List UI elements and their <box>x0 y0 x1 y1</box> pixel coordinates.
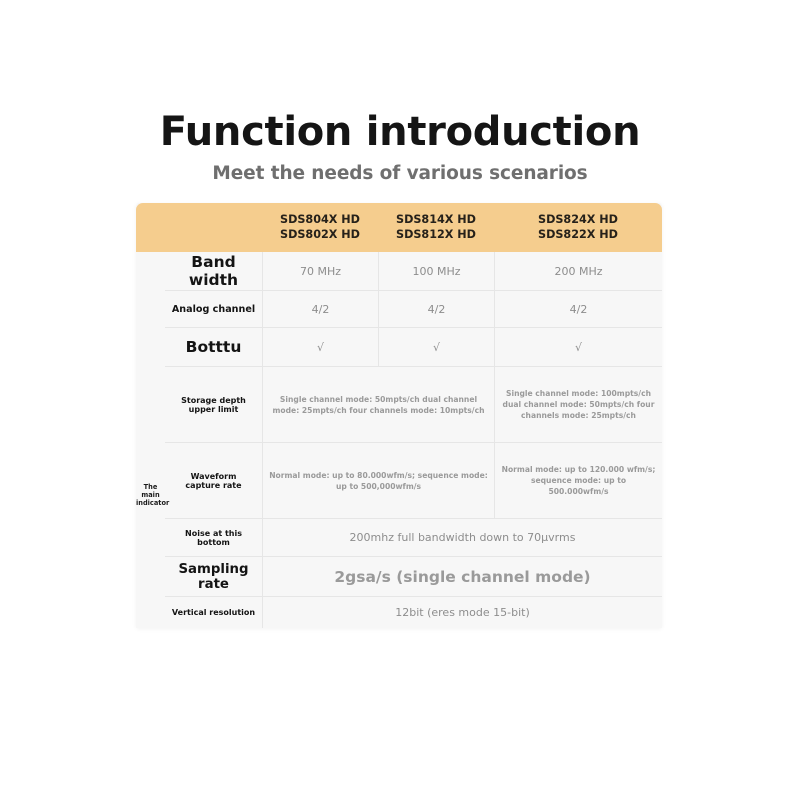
row-label-storage-depth-line-2: upper limit <box>181 405 246 414</box>
cell-waveform-col-3: Normal mode: up to 120.000 wfm/s; sequen… <box>494 443 662 518</box>
cell-noise-all-columns: 200mhz full bandwidth down to 70µvrms <box>262 519 662 556</box>
table-row: Vertical resolution 12bit (eres mode 15-… <box>165 596 662 628</box>
table-rows: Band width 70 MHz 100 MHz 200 MHz Analog… <box>165 252 662 628</box>
table-row: Botttu √ √ √ <box>165 327 662 366</box>
row-label-vertical-resolution: Vertical resolution <box>165 597 262 628</box>
row-label-storage-depth: Storage depth upper limit <box>165 367 262 442</box>
cell-botttu-col-1: √ <box>262 328 378 366</box>
row-label-band-width: Band width <box>165 252 262 290</box>
table-header-col-1: SDS804X HD SDS802X HD <box>262 213 378 243</box>
table-header-col-3-line-1: SDS824X HD <box>494 213 662 228</box>
cell-botttu-col-2: √ <box>378 328 494 366</box>
row-label-waveform-capture-rate: Waveform capture rate <box>165 443 262 518</box>
cell-analog-channel-col-3: 4/2 <box>494 291 662 327</box>
table-header-col-2-line-1: SDS814X HD <box>378 213 494 228</box>
table-row: Band width 70 MHz 100 MHz 200 MHz <box>165 252 662 290</box>
table-body: The main indicator Band width 70 MHz 100… <box>136 252 662 628</box>
cell-band-width-col-3: 200 MHz <box>494 252 662 290</box>
page-title: Function introduction <box>0 110 800 155</box>
table-row: Storage depth upper limit Single channel… <box>165 366 662 442</box>
table-header-col-3-line-2: SDS822X HD <box>494 228 662 243</box>
table-header-col-1-line-1: SDS804X HD <box>262 213 378 228</box>
cell-analog-channel-col-2: 4/2 <box>378 291 494 327</box>
row-label-sampling-rate: Sampling rate <box>165 557 262 596</box>
table-row: Waveform capture rate Normal mode: up to… <box>165 442 662 518</box>
row-label-botttu: Botttu <box>165 328 262 366</box>
table-header-col-1-line-2: SDS802X HD <box>262 228 378 243</box>
row-label-noise-at-this-bottom: Noise at this bottom <box>165 519 262 556</box>
table-row: Noise at this bottom 200mhz full bandwid… <box>165 518 662 556</box>
cell-storage-depth-col-3: Single channel mode: 100mpts/ch dual cha… <box>494 367 662 442</box>
cell-sampling-rate-all-columns: 2gsa/s (single channel mode) <box>262 557 662 596</box>
cell-band-width-col-2: 100 MHz <box>378 252 494 290</box>
table-header-col-3: SDS824X HD SDS822X HD <box>494 213 662 243</box>
cell-vertical-resolution-all-columns: 12bit (eres mode 15-bit) <box>262 597 662 628</box>
table-row: Analog channel 4/2 4/2 4/2 <box>165 290 662 327</box>
cell-storage-depth-col-1-2: Single channel mode: 50mpts/ch dual chan… <box>262 367 494 442</box>
table-header-col-2: SDS814X HD SDS812X HD <box>378 213 494 243</box>
page-root: Function introduction Meet the needs of … <box>0 0 800 800</box>
table-header-col-2-line-2: SDS812X HD <box>378 228 494 243</box>
row-label-storage-depth-line-1: Storage depth <box>181 396 246 405</box>
table-row: Sampling rate 2gsa/s (single channel mod… <box>165 556 662 596</box>
title-block: Function introduction Meet the needs of … <box>0 110 800 184</box>
cell-waveform-col-1-2: Normal mode: up to 80.000wfm/s; sequence… <box>262 443 494 518</box>
spec-comparison-card: SDS804X HD SDS802X HD SDS814X HD SDS812X… <box>136 203 662 628</box>
table-side-label-text: The main indicator <box>136 483 165 508</box>
page-subtitle: Meet the needs of various scenarios <box>0 163 800 184</box>
row-label-waveform-line-1: Waveform <box>185 472 241 481</box>
cell-analog-channel-col-1: 4/2 <box>262 291 378 327</box>
table-header-row: SDS804X HD SDS802X HD SDS814X HD SDS812X… <box>136 203 662 252</box>
row-label-analog-channel: Analog channel <box>165 291 262 327</box>
row-label-waveform-line-2: capture rate <box>185 481 241 490</box>
table-side-label: The main indicator <box>136 252 165 628</box>
cell-band-width-col-1: 70 MHz <box>262 252 378 290</box>
cell-botttu-col-3: √ <box>494 328 662 366</box>
